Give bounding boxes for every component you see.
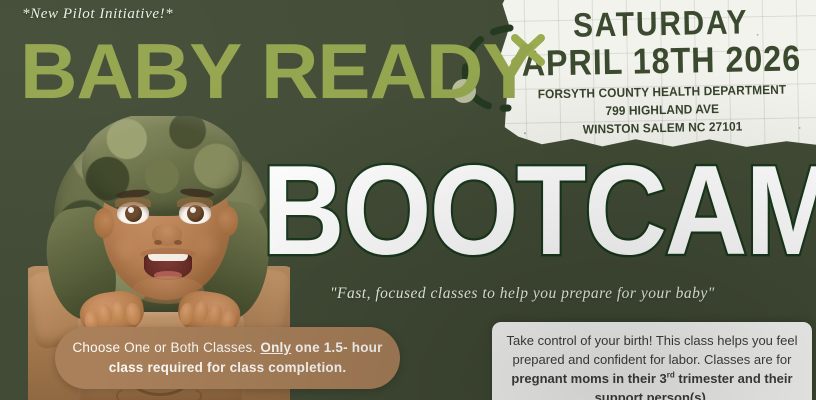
description-bold-a: pregnant moms in their 3 bbox=[511, 371, 666, 386]
class-description-card: Take control of your birth! This class h… bbox=[492, 322, 812, 400]
poster-tagline: "Fast, focused classes to help you prepa… bbox=[330, 285, 715, 303]
event-date: APRIL 18TH 2026 bbox=[513, 39, 810, 82]
poster-canvas: SATURDAY APRIL 18TH 2026 FORSYTH COUNTY … bbox=[0, 0, 816, 400]
notice-bold-a: one 1.5- bbox=[295, 340, 348, 355]
event-paper-note: SATURDAY APRIL 18TH 2026 FORSYTH COUNTY … bbox=[495, 0, 816, 153]
headline-baby-ready: BABY READY bbox=[20, 36, 534, 106]
notice-light-text: Choose One or Both Classes. bbox=[72, 340, 256, 355]
notice-underlined-word: Only bbox=[260, 340, 291, 355]
description-light-text: Take control of your birth! This class h… bbox=[507, 333, 798, 367]
headline-bootcamp: BOOTCAMP bbox=[262, 148, 816, 273]
class-requirement-notice: Choose One or Both Classes. Only one 1.5… bbox=[55, 327, 400, 389]
pilot-initiative-badge: *New Pilot Initiative!* bbox=[22, 6, 173, 23]
description-ordinal-suffix: rd bbox=[667, 371, 675, 380]
